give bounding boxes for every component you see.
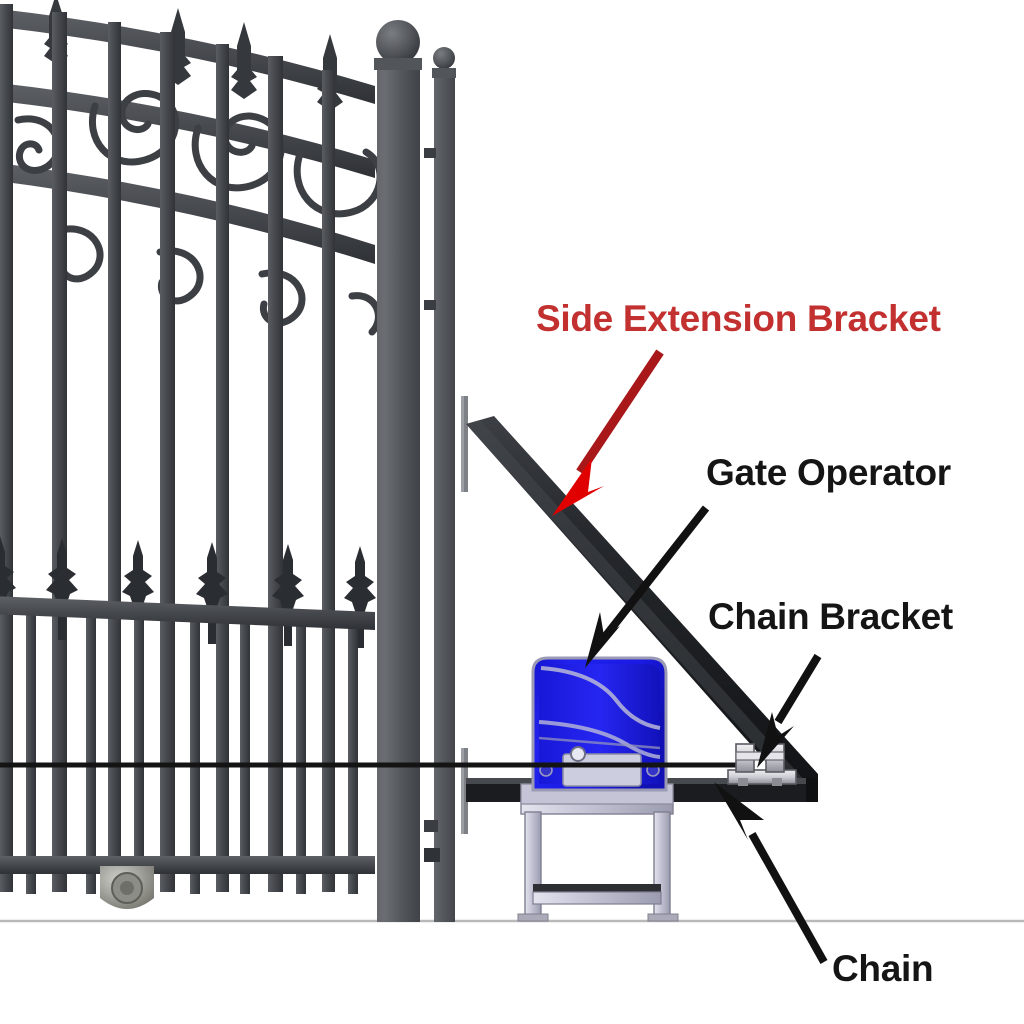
label-gate-operator: Gate Operator — [706, 454, 951, 491]
blue-operator-housing — [533, 658, 666, 790]
gate-short-pickets — [26, 602, 358, 894]
label-chain: Chain — [832, 950, 933, 987]
gate-operator-installation-diagram — [0, 0, 1024, 1024]
gate-operator-unit — [518, 658, 678, 921]
gate-roller-wheel — [100, 866, 154, 909]
main-gate-post — [374, 20, 422, 922]
secondary-post — [424, 47, 456, 922]
label-side-extension-bracket: Side Extension Bracket — [536, 300, 941, 337]
gate-bottom-rail — [0, 856, 375, 874]
diagram-canvas: Side Extension Bracket Gate Operator Cha… — [0, 0, 1024, 1024]
side-extension-bracket-arrow — [552, 352, 660, 516]
chain-arrow — [714, 782, 824, 962]
operator-stand — [518, 800, 678, 921]
slide-gate — [0, 0, 380, 909]
post-mount-plate-upper — [461, 396, 468, 492]
label-chain-bracket: Chain Bracket — [708, 598, 953, 635]
